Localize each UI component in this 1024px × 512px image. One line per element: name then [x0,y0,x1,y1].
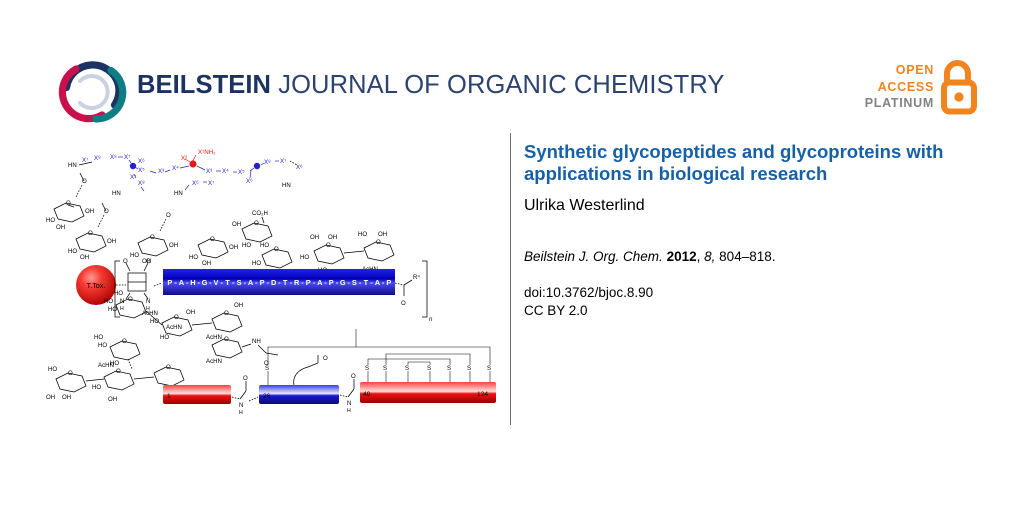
ring-o-15: O [166,364,171,371]
label-achn-4: AcHN [98,362,114,369]
label-ho-20: HO [92,384,101,391]
branch-label-x7b: X⁷ [82,157,88,164]
label-ho-1: HO [46,217,55,224]
label-n-amide-2: N [347,400,351,407]
sugar-cluster-upper-left: O OH HO OH O O OH HO OH O O OH HO OH O O… [46,173,238,267]
disulfide-bridges: S S S S S S S S [265,329,491,385]
peptide-residue-separator: - [301,278,304,287]
peptide-residue-separator: - [197,278,200,287]
label-ho-4: HO [189,254,198,261]
peptide-residue: S [352,278,357,287]
peptide-residue: P [260,278,265,287]
label-ho-3: HO [130,252,139,259]
label-o-sq-2: O [146,258,151,265]
ring-o-10: O [174,314,179,321]
label-hn-mid: HN [174,190,183,197]
open-access-unlocked-padlock-icon [938,60,980,115]
peptide-sequence-letters: P-A-H-G-V-T-S-A-P-D-T-R-P-A-P-G-S-T-A-P [167,278,391,287]
open-access-line-open: OPEN [865,62,934,79]
peptide-residue: V [214,278,219,287]
disulfide-s-7: S [467,365,471,372]
graphical-abstract: X¹NH₂ X² X³ X⁴ X⁵ X⁶ X⁷ X⁸ HN X⁸ X⁷ X⁷ X… [46,133,496,425]
peptide-residue-separator: - [174,278,177,287]
peptide-residue: R [294,278,300,287]
label-oh-9: OH [232,221,241,228]
peptide-residue: D [271,278,277,287]
sugar-cluster-right: O OH CO₂H HO HO O HO AcHN O OH OH HO HO … [232,210,394,276]
journal-wordmark-bold: BEILSTEIN [137,71,271,99]
ring-o-13: O [68,370,73,377]
label-ho-15: HO [160,334,169,341]
peptide-residue-separator: - [359,278,362,287]
ring-o-16: O [224,336,229,343]
peptide-sequence-bar: P-A-H-G-V-T-S-A-P-D-T-R-P-A-P-G-S-T-A-P … [154,269,420,307]
label-r4: R⁴ [413,274,420,281]
beilstein-triple-arc-logo [56,57,130,127]
label-ho-13: HO [114,290,123,297]
label-achn-3: AcHN [206,334,222,341]
ring-o-8: O [376,239,381,246]
open-access-line-platinum: PLATINUM [865,95,934,112]
label-ho-7: HO [252,260,261,267]
branch-label-x5-right: X⁵ [238,169,245,176]
peptide-residue-separator: - [347,278,350,287]
label-ho-12: HO [108,306,117,313]
disulfide-s-4: S [405,365,409,372]
ring-o-9: O [128,296,133,303]
peptide-residue: S [237,278,242,287]
journal-wordmark: BEILSTEIN JOURNAL OF ORGANIC CHEMISTRY [137,71,725,100]
article-metadata-panel: Synthetic glycopeptides and glycoprotein… [524,141,994,319]
label-oh-15: OH [46,394,55,401]
label-oh-4: OH [80,254,89,261]
label-achn-7: AcHN [142,310,158,317]
domain-start-3: 40 [363,391,371,398]
label-ho-8: HO [300,254,309,261]
label-o-amide-3: O [351,373,356,380]
branch-label-x4-left: X⁴ [172,165,179,172]
peptide-residue: G [340,278,346,287]
label-ho-16: HO [94,334,103,341]
peptide-residue: T [225,278,230,287]
peptide-residue-separator: - [255,278,258,287]
peptide-residue: G [202,278,208,287]
article-license: CC BY 2.0 [524,302,994,319]
label-oh-7: OH [229,244,238,251]
peptide-residue-separator: - [221,278,224,287]
peptide-residue: A [317,278,323,287]
ring-o-5: O [254,220,259,227]
disulfide-s-8: S [487,365,491,372]
label-oh-14: OH [234,302,243,309]
label-o-sq-1: O [123,258,128,265]
domain-end-3: 124 [477,391,488,398]
peptide-residue-separator: - [382,278,385,287]
article-doi[interactable]: doi:10.3762/bjoc.8.90 [524,284,994,301]
label-ho-10: HO [358,231,367,238]
dendrimer-core-label-x1: X¹NH₂ [198,149,216,156]
citation-year: 2012 [667,249,697,264]
dendrimer-core: X¹NH₂ X² X³ X⁴ X⁵ X⁶ X⁷ X⁸ HN X⁸ X⁷ X⁷ X… [68,149,303,197]
branch-label-x5-left: X⁵ [138,167,145,174]
peptide-residue-separator: - [209,278,212,287]
open-access-badge: OPEN ACCESS PLATINUM [868,60,980,118]
masthead: BEILSTEIN JOURNAL OF ORGANIC CHEMISTRY O… [0,0,1024,133]
disulfide-s-6: S [447,365,451,372]
label-n-sq-2: N [146,298,150,305]
disulfide-s-3: S [383,365,387,372]
peptide-residue: P [329,278,334,287]
peptide-residue-separator: - [186,278,189,287]
label-oh-17: OH [108,396,117,403]
graphical-abstract-svg: X¹NH₂ X² X³ X⁴ X⁵ X⁶ X⁷ X⁸ HN X⁸ X⁷ X⁷ X… [46,133,496,425]
peptide-residue: T [364,278,369,287]
ring-o-14: O [116,368,121,375]
disulfide-s-1: S [265,365,269,372]
page-title: Synthetic glycopeptides and glycoprotein… [524,141,994,184]
peptide-residue: A [375,278,381,287]
branch-label-x6-far: X⁶ [296,164,303,171]
peptide-residue-separator: - [336,278,339,287]
branch-label-x6-right: X⁶ [246,178,253,185]
citation-journal: Beilstein J. Org. Chem. [524,249,663,264]
domain-bar-c-terminal [360,382,496,403]
label-oh-5: OH [169,242,178,249]
label-hn-left: HN [68,162,77,169]
label-oh-1: OH [85,208,94,215]
label-ho-5: HO [242,242,251,249]
label-oh-3: OH [107,238,116,245]
label-o-terminal: O [401,300,406,307]
branch-label-x6-mid: X⁶ [192,180,199,187]
branch-label-x8-right: X⁸ [264,159,271,166]
citation-volume: 8, [704,249,715,264]
label-hn-lower-left: HN [112,190,121,197]
disulfide-s-2: S [365,365,369,372]
ring-o-2: O [88,230,93,237]
label-oh-13: OH [186,309,195,316]
peptide-residue-separator: - [290,278,293,287]
label-n-amide-1: N [239,402,243,409]
branch-node-left [130,163,136,169]
column-divider [510,133,511,425]
label-ho-19: HO [48,366,57,373]
article-authors: Ulrika Westerlind [524,196,994,215]
citation-pages: 804–818. [719,249,775,264]
peptide-residue: H [190,278,196,287]
core-node [189,160,196,167]
label-o-carbonyl-3: O [166,212,171,219]
open-access-text: OPEN ACCESS PLATINUM [865,62,934,112]
label-oh-10: OH [310,234,319,241]
peptide-residue: T [283,278,288,287]
label-h-amide-2: H [347,408,351,414]
ring-o-7: O [326,242,331,249]
label-oh-12: OH [378,231,387,238]
branch-label-x8-lower: X⁸ [138,180,145,187]
branch-label-x3-left: X³ [158,168,164,175]
ring-o-11: O [224,310,229,317]
peptide-residue-separator: - [232,278,235,287]
ring-o-4: O [210,236,215,243]
branch-label-x3-right: X³ [206,168,212,175]
dendrimer-core-label-x2: X² [181,155,187,162]
ring-o-1: O [66,200,71,207]
domain-bar-n-terminal [163,385,231,404]
label-oh-2: OH [56,224,65,231]
label-ho-11: HO [104,298,113,305]
domain-start-1: 1 [167,393,171,400]
branch-label-x7-mid: X⁷ [208,180,214,187]
repeat-subscript: n [429,316,433,323]
peptide-residue: P [386,278,391,287]
branch-label-x7-right: X⁷ [280,158,286,165]
label-co2h: CO₂H [252,210,268,217]
label-oh-11: OH [328,234,337,241]
peptide-residue-separator: - [313,278,316,287]
peptide-residue-separator: - [324,278,327,287]
label-ho-6: HO [260,242,269,249]
domain-bar-middle [259,385,339,404]
ring-o-12: O [122,338,127,345]
article-citation: Beilstein J. Org. Chem. 2012, 8, 804–818… [524,248,994,265]
peptide-residue: P [306,278,311,287]
label-o-amide-2: O [243,375,248,382]
ring-o-6: O [274,246,279,253]
protein-domain-diagram: 1 O N H 26 O N H 40 124 S S S S [163,329,496,416]
peptide-residue: A [179,278,185,287]
squarate-linker: O O N H N H [116,258,151,312]
peptide-residue: A [248,278,254,287]
journal-wordmark-light: JOURNAL OF ORGANIC CHEMISTRY [271,71,724,99]
label-h-amide-1: H [239,410,243,416]
open-access-line-access: ACCESS [865,79,934,96]
label-ho-2: HO [68,248,77,255]
label-nh-1: NH [252,338,261,345]
peptide-residue-separator: - [370,278,373,287]
label-oh-16: OH [62,394,71,401]
label-oh-8: OH [202,260,211,267]
branch-node-right [254,163,260,169]
disulfide-s-5: S [427,365,431,372]
branch-label-x7-left: X⁷ [124,154,130,161]
branch-label-x6-left: X⁶ [138,158,145,165]
domain-start-2: 26 [263,393,271,400]
label-hn-right: HN [282,182,291,189]
ring-o-3: O [150,234,155,241]
branch-label-x4-right: X⁴ [222,168,229,175]
peptide-residue-separator: - [267,278,270,287]
label-achn-6: AcHN [166,324,182,331]
label-o-thioether: O [323,355,328,362]
label-ho-17: HO [98,342,107,349]
peptide-residue-separator: - [244,278,247,287]
branch-label-x8-left: X⁸ [110,154,117,161]
label-achn-5: AcHN [206,358,222,365]
branch-label-x8b: X⁸ [94,155,101,162]
peptide-residue: P [167,278,172,287]
peptide-residue-separator: - [278,278,281,287]
label-h-sq-1: H [120,306,124,312]
